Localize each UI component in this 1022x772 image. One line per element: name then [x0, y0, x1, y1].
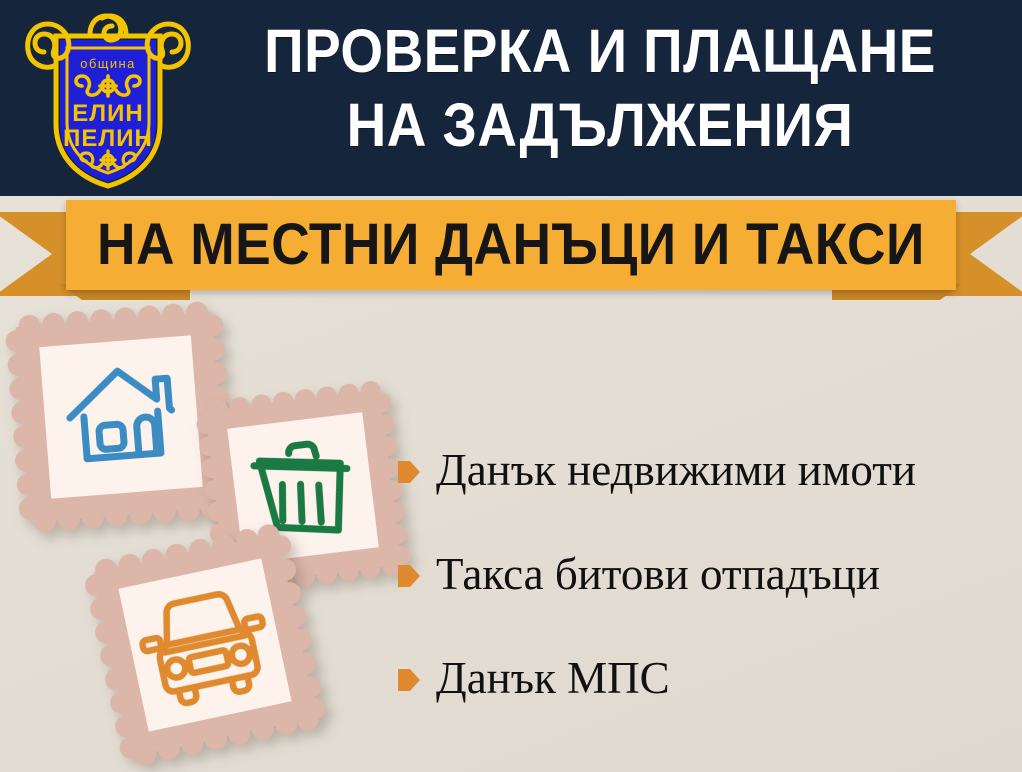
tax-type-list: Данък недвижими имоти Такса битови отпад…: [398, 418, 1022, 730]
municipality-crest: община ЕЛИН ПЕЛИН: [24, 6, 192, 190]
stamp-card-vehicle: [80, 520, 329, 769]
crest-line-2: ЕЛИН: [72, 100, 143, 127]
arrow-pentagon-bullet-icon: [398, 459, 420, 485]
list-item-label: Данък МПС: [436, 653, 670, 703]
list-item-label: Данък недвижими имоти: [436, 445, 916, 495]
arrow-pentagon-bullet-icon: [398, 563, 420, 589]
poster-header: община ЕЛИН ПЕЛИН: [0, 0, 1022, 196]
subtitle-ribbon: НА МЕСТНИ ДАНЪЦИ И ТАКСИ: [0, 196, 1022, 308]
crest-line-3: ПЕЛИН: [63, 125, 153, 152]
list-item[interactable]: Такса битови отпадъци: [398, 522, 1022, 626]
ribbon-band: НА МЕСТНИ ДАНЪЦИ И ТАКСИ: [66, 200, 956, 290]
list-item[interactable]: Данък МПС: [398, 626, 1022, 730]
list-item-label: Такса битови отпадъци: [436, 549, 880, 599]
arrow-pentagon-bullet-icon: [398, 667, 420, 693]
stamp-card-group: [0, 290, 430, 772]
poster-root: община ЕЛИН ПЕЛИН: [0, 0, 1022, 772]
crest-line-1: община: [80, 56, 135, 71]
page-title: ПРОВЕРКА И ПЛАЩАНЕ НА ЗАДЪЛЖЕНИЯ: [190, 14, 1010, 162]
ribbon-text: НА МЕСТНИ ДАНЪЦИ И ТАКСИ: [97, 214, 925, 276]
title-line-1: ПРОВЕРКА И ПЛАЩАНЕ: [231, 14, 969, 88]
title-line-2: НА ЗАДЪЛЖЕНИЯ: [231, 88, 969, 162]
list-item[interactable]: Данък недвижими имоти: [398, 418, 1022, 522]
